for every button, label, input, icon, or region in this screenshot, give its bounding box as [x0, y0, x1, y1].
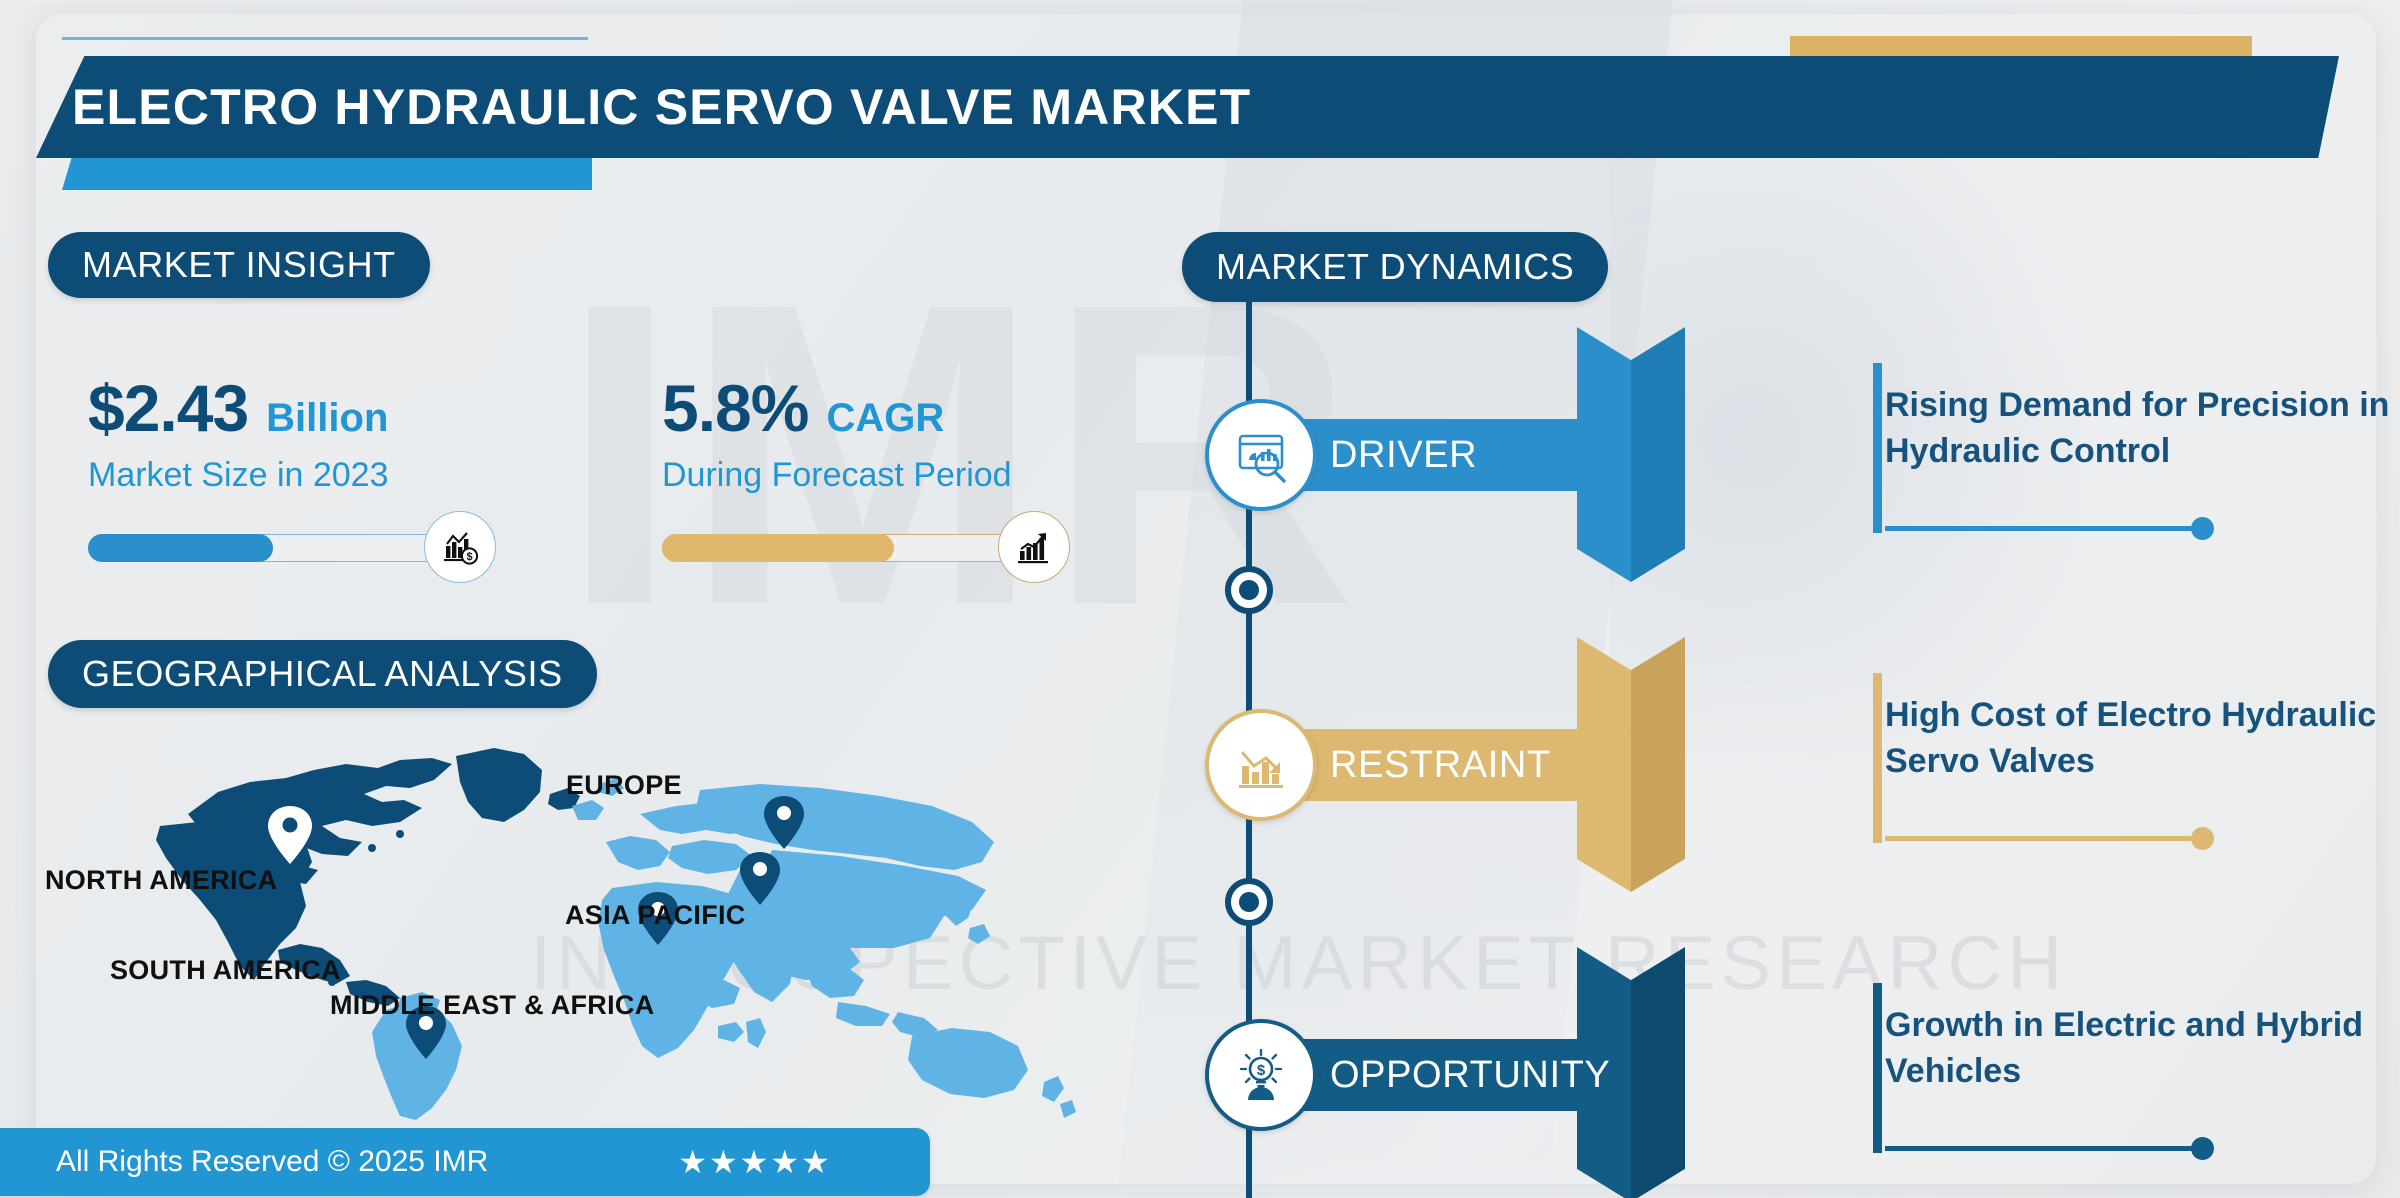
map-label-south-america: SOUTH AMERICA [110, 955, 341, 986]
restraint-connector [1885, 836, 2205, 841]
stat-value-row: 5.8% CAGR [662, 370, 1182, 446]
map-label-middle-east-africa: MIDDLE EAST & AFRICA [330, 990, 655, 1021]
badge-market-dynamics: MARKET DYNAMICS [1182, 232, 1608, 302]
driver-description: Rising Demand for Precision in Hydraulic… [1885, 383, 2400, 474]
opportunity-connector-dot [2191, 1137, 2214, 1160]
driver-connector [1885, 526, 2205, 531]
header-accent-bar [62, 158, 592, 190]
map-label-north-america: NORTH AMERICA [45, 865, 277, 896]
market-size-label: Market Size in 2023 [88, 456, 608, 495]
opportunity-connector [1885, 1146, 2205, 1151]
driver-vertical-rule [1873, 363, 1882, 533]
map-label-europe: EUROPE [566, 770, 682, 801]
lightbulb-dollar-icon: $ [1205, 1019, 1317, 1131]
bar-chart-dollar-icon: $ [424, 511, 496, 583]
infographic-canvas: IMR INTROSPECTIVE MARKET RESEARCH ELECTR… [0, 0, 2400, 1198]
page-title: ELECTRO HYDRAULIC SERVO VALVE MARKET [72, 56, 2272, 158]
market-size-meter: $ [88, 529, 508, 567]
timeline-node-2 [1225, 878, 1273, 926]
restraint-vertical-rule [1873, 673, 1882, 843]
restraint-label: RESTRAINT [1330, 729, 1551, 801]
declining-bar-chart-icon [1205, 709, 1317, 821]
market-size-unit: Billion [266, 396, 388, 441]
svg-text:$: $ [1257, 1062, 1266, 1079]
stat-market-size: $2.43 Billion Market Size in 2023 $ [88, 370, 608, 567]
meter-fill [88, 534, 273, 562]
growth-arrow-chart-icon [998, 511, 1070, 583]
star-rating: ★★★★★ [678, 1143, 831, 1181]
header-thin-rule [62, 37, 588, 40]
timeline-node-1 [1225, 566, 1273, 614]
opportunity-description: Growth in Electric and Hybrid Vehicles [1885, 1003, 2400, 1094]
stat-value-row: $2.43 Billion [88, 370, 608, 446]
footer-bar: All Rights Reserved © 2025 IMR ★★★★★ [0, 1128, 930, 1196]
opportunity-vertical-rule [1873, 983, 1882, 1153]
arrow-half-right [1631, 327, 1685, 582]
world-map: NORTH AMERICA SOUTH AMERICA MIDDLE EAST … [100, 730, 1130, 1120]
badge-market-insight: MARKET INSIGHT [48, 232, 430, 298]
badge-geographical-analysis: GEOGRAPHICAL ANALYSIS [48, 640, 597, 708]
cagr-meter [662, 529, 1082, 567]
driver-label: DRIVER [1330, 419, 1477, 491]
driver-connector-dot [2191, 517, 2214, 540]
copyright-text: All Rights Reserved © 2025 IMR [56, 1145, 488, 1179]
cagr-unit: CAGR [826, 396, 944, 441]
restraint-description: High Cost of Electro Hydraulic Servo Val… [1885, 693, 2400, 784]
svg-text:$: $ [466, 551, 472, 563]
map-region-eastern-hemisphere [572, 778, 1076, 1118]
restraint-connector-dot [2191, 827, 2214, 850]
cagr-value: 5.8% [662, 370, 808, 446]
stat-cagr: 5.8% CAGR During Forecast Period [662, 370, 1182, 567]
market-size-value: $2.43 [88, 370, 248, 446]
meter-fill [662, 534, 894, 562]
arrow-half-right [1631, 637, 1685, 892]
arrow-half-right [1631, 947, 1685, 1198]
cagr-label: During Forecast Period [662, 456, 1182, 495]
report-analysis-magnifier-icon [1205, 399, 1317, 511]
opportunity-label: OPPORTUNITY [1330, 1039, 1610, 1111]
map-label-asia-pacific: ASIA PACIFIC [565, 900, 746, 931]
